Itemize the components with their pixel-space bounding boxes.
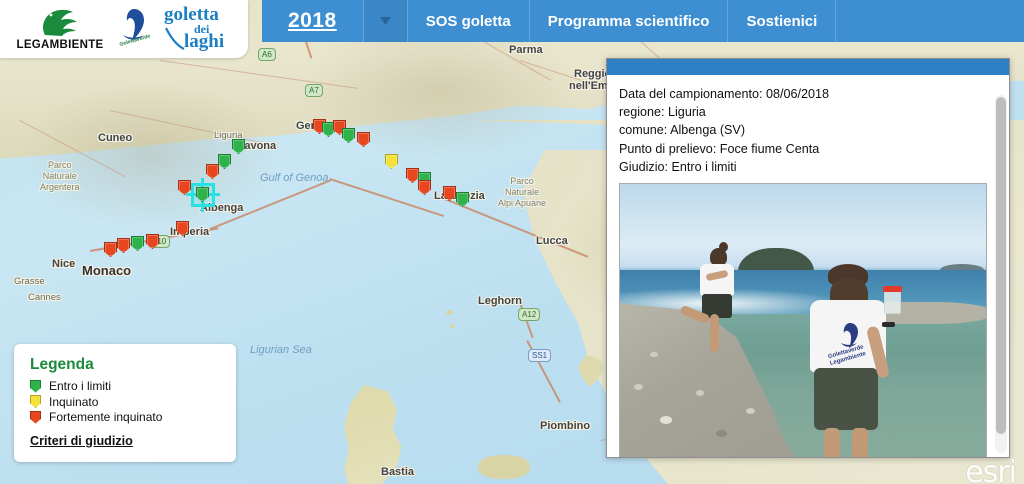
map-label-albenga: Albenga <box>200 202 243 214</box>
map-label-monaco: Monaco <box>82 263 131 278</box>
legend-box: Legenda Entro i limitiInquinatoFortement… <box>14 344 236 462</box>
photo-person-leg <box>824 428 840 457</box>
criteri-di-giudizio-link[interactable]: Criteri di giudizio <box>30 434 133 448</box>
map-label-cannes: Cannes <box>28 292 61 303</box>
photo-pebble <box>634 384 643 390</box>
legend-item-label: Entro i limiti <box>49 379 111 393</box>
legend-item-red: Fortemente inquinato <box>30 410 222 424</box>
photo-sample-jar-cap <box>883 286 902 292</box>
photo-pebble <box>696 390 704 396</box>
map-park-label: ParcoNaturaleArgentera <box>40 160 80 193</box>
popup-header-bar <box>607 59 1009 75</box>
goletta-verde-logo[interactable]: Golettaverde <box>110 5 162 54</box>
legend-title: Legenda <box>30 356 222 374</box>
legend-marker-green-icon <box>30 380 41 393</box>
map-marker-red[interactable] <box>206 164 219 179</box>
map-label-ligurian-sea: Ligurian Sea <box>250 344 312 356</box>
photo-sample-jar <box>884 290 901 314</box>
legend-marker-yellow-icon <box>30 395 41 408</box>
map-label-gulf-of-genoa: Gulf of Genoa <box>260 172 329 184</box>
map-marker-red[interactable] <box>178 180 191 195</box>
map-marker-red[interactable] <box>406 168 419 183</box>
esri-attribution: esri <box>965 455 1016 484</box>
photo-person-left <box>692 248 744 368</box>
map-marker-green[interactable] <box>342 128 355 143</box>
feature-info-popup[interactable]: Data del campionamento: 08/06/2018region… <box>606 58 1010 458</box>
photo-pebble <box>716 430 727 437</box>
map-marker-red[interactable] <box>418 180 431 195</box>
photo-pebble <box>660 416 672 424</box>
map-marker-yellow[interactable] <box>385 154 398 169</box>
photo-wrist-band <box>882 322 895 327</box>
map-application: CuneoSavonaAlbengaImperiaMonacoNiceGrass… <box>0 0 1024 484</box>
photo-person-leg <box>710 314 719 352</box>
photo-person-leg <box>852 428 868 457</box>
road-shield-ss1: SS1 <box>528 349 551 362</box>
swan-icon <box>10 8 110 38</box>
photo-pebble <box>746 408 755 414</box>
popup-body: Data del campionamento: 08/06/2018region… <box>607 75 1009 457</box>
map-label-nice: Nice <box>52 258 75 270</box>
chevron-down-icon[interactable] <box>364 0 408 42</box>
legend-marker-red-icon <box>30 411 41 424</box>
legend-item-label: Fortemente inquinato <box>49 410 162 424</box>
laghi-wordmark: laghi <box>184 31 224 52</box>
map-label-piombino: Piombino <box>540 420 590 432</box>
map-label-imperia: Imperia <box>170 226 209 238</box>
popup-field-list: Data del campionamento: 08/06/2018region… <box>619 85 997 176</box>
popup-field-giudizio: Giudizio: Entro i limiti <box>619 158 997 176</box>
popup-field-comune: comune: Albenga (SV) <box>619 121 997 139</box>
popup-field-data-del-campionamento: Data del campionamento: 08/06/2018 <box>619 85 997 103</box>
photo-person-right: Golettaverde Legambiente <box>806 264 902 457</box>
photo-person-shorts <box>814 368 878 430</box>
logo-card: LEGAMBIENTE Golettaverde goletta dei lag… <box>0 0 248 58</box>
map-label-cuneo: Cuneo <box>98 132 132 144</box>
top-navigation-bar: 2018 SOS goletta Programma scientifico S… <box>262 0 1024 42</box>
nav-item-sos-goletta[interactable]: SOS goletta <box>408 0 530 42</box>
map-marker-red[interactable] <box>357 132 370 147</box>
legambiente-label: LEGAMBIENTE <box>10 39 110 51</box>
landmass-islet <box>446 310 453 315</box>
road-shield-a6: A6 <box>258 48 276 61</box>
map-label-grasse: Grasse <box>14 276 45 287</box>
legend-item-green: Entro i limiti <box>30 379 222 393</box>
photo-pebble <box>650 352 658 357</box>
road-shield-a7: A7 <box>305 84 323 97</box>
map-marker-green-selected[interactable] <box>196 187 209 202</box>
map-label-leghorn: Leghorn <box>478 295 522 307</box>
legend-item-list: Entro i limitiInquinatoFortemente inquin… <box>30 379 222 424</box>
photo-person-bun <box>719 242 728 252</box>
legambiente-logo[interactable]: LEGAMBIENTE <box>10 8 110 51</box>
popup-field-punto-di-prelievo: Punto di prelievo: Foce fiume Centa <box>619 140 997 158</box>
nav-year-2018[interactable]: 2018 <box>262 0 364 42</box>
photo-person-shirt <box>700 264 734 296</box>
nav-item-programma-scientifico[interactable]: Programma scientifico <box>530 0 729 42</box>
map-marker-green[interactable] <box>131 236 144 251</box>
legend-item-yellow: Inquinato <box>30 395 222 409</box>
map-park-label: ParcoNaturaleAlpi Apuane <box>498 176 546 209</box>
nav-item-sostienici[interactable]: Sostienici <box>728 0 836 42</box>
map-label-parma: Parma <box>509 44 543 56</box>
landmass-islet <box>450 324 455 328</box>
popup-field-regione: regione: Liguria <box>619 103 997 121</box>
popup-scrollbar[interactable] <box>995 95 1007 453</box>
sampling-photo: Golettaverde Legambiente <box>619 183 987 457</box>
map-label-bastia: Bastia <box>381 466 414 478</box>
map-marker-red[interactable] <box>117 238 130 253</box>
map-label-lucca: Lucca <box>536 235 568 247</box>
map-marker-red[interactable] <box>104 242 117 257</box>
road-shield-a12: A12 <box>518 308 540 321</box>
legend-item-label: Inquinato <box>49 395 98 409</box>
goletta-wordmark: goletta <box>164 4 219 25</box>
popup-scrollbar-thumb[interactable] <box>996 97 1006 434</box>
landmass-islet <box>478 455 530 479</box>
goletta-dei-laghi-logo[interactable]: goletta dei laghi <box>162 2 248 57</box>
map-marker-green[interactable] <box>218 154 231 169</box>
